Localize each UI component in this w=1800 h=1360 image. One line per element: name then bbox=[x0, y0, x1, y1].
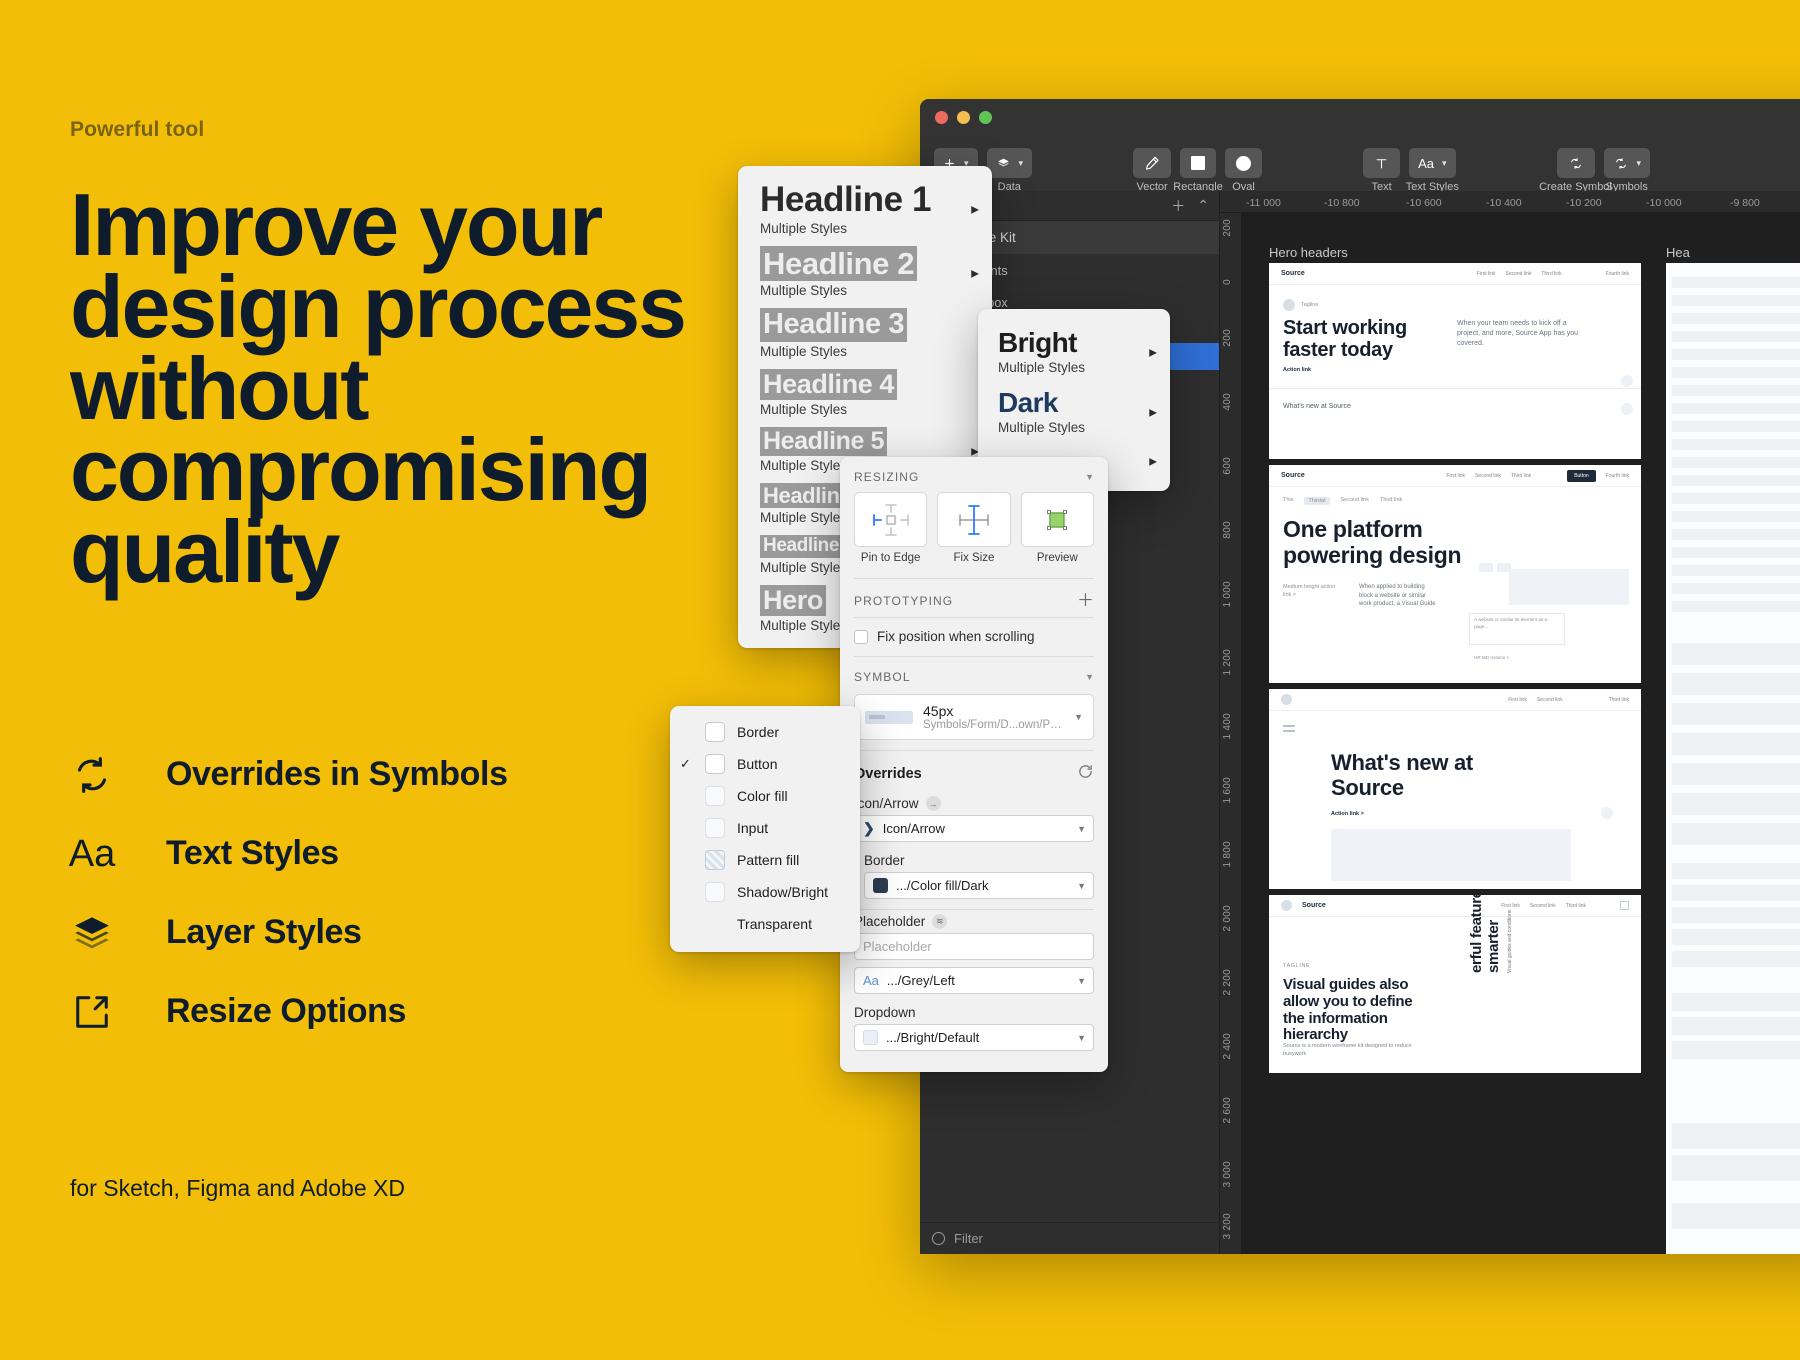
feature-label: Overrides in Symbols bbox=[166, 755, 508, 794]
override-value: .../Color fill/Dark bbox=[896, 878, 988, 893]
menu-icon[interactable] bbox=[1283, 725, 1295, 727]
arrow-badge-icon[interactable]: → bbox=[926, 796, 941, 811]
artboard-body: When your team needs to kick off a proje… bbox=[1457, 319, 1587, 349]
cta-link[interactable]: Action link > bbox=[1331, 811, 1364, 817]
style-sub: Multiple Styles bbox=[998, 420, 1156, 435]
menu-item-input[interactable]: Input bbox=[670, 812, 860, 844]
chevron-right-icon[interactable]: ▶ bbox=[1149, 457, 1157, 468]
filter-label: Filter bbox=[954, 1231, 983, 1246]
ruler-tick: 1 800 bbox=[1222, 841, 1233, 868]
chevron-down-icon[interactable]: ▼ bbox=[1077, 976, 1086, 986]
override-name: Icon/Arrow bbox=[854, 796, 919, 811]
cta-link[interactable]: Action link bbox=[1283, 367, 1311, 373]
add-page-icon[interactable]: ＋ bbox=[1171, 196, 1185, 216]
override-field-text-style[interactable]: Aa .../Grey/Left ▼ bbox=[854, 967, 1094, 994]
override-label-icon-arrow: Icon/Arrow → bbox=[840, 792, 1108, 815]
menu-item-button[interactable]: ✓ Button bbox=[670, 748, 860, 780]
fix-size-icon bbox=[937, 492, 1010, 547]
chevron-down-icon[interactable]: ▼ bbox=[1077, 1033, 1086, 1043]
resize-option-pin-to-edge[interactable]: Pin to Edge bbox=[854, 492, 927, 564]
tab-item[interactable]: Third link bbox=[1380, 497, 1402, 505]
carousel-prev-button[interactable] bbox=[1479, 563, 1493, 572]
resize-option-label: Pin to Edge bbox=[854, 552, 927, 564]
feature-item-text-styles: Aa Text Styles bbox=[70, 814, 730, 893]
override-label-placeholder: Placeholder ≋ bbox=[840, 910, 1108, 933]
collapse-icon[interactable]: ⌃ bbox=[1197, 197, 1209, 214]
style-sub: Multiple Styles bbox=[998, 360, 1156, 375]
resize-option-label: Fix Size bbox=[937, 552, 1010, 564]
grid-icon[interactable] bbox=[1620, 901, 1629, 910]
menu-item-label: Transparent bbox=[737, 916, 812, 932]
menu-item-pattern-fill[interactable]: Pattern fill bbox=[670, 844, 860, 876]
artboard-one-platform[interactable]: Source First link Second link Third link… bbox=[1269, 465, 1641, 683]
feature-label: Text Styles bbox=[166, 834, 339, 873]
chevron-right-icon: ❯ bbox=[863, 820, 875, 837]
section-title: Overrides bbox=[854, 766, 922, 782]
artboard-side-heading: erful features for ing smarter bbox=[1469, 895, 1503, 973]
tab-item[interactable]: This bbox=[1283, 497, 1293, 505]
ruler-tick: 2 400 bbox=[1222, 1033, 1233, 1060]
artboard-side-body: Visual guides and conditions bbox=[1507, 895, 1514, 973]
ruler-tick: -10 200 bbox=[1566, 197, 1602, 209]
feature-item-resize-options: Resize Options bbox=[70, 972, 730, 1051]
reset-icon[interactable] bbox=[1077, 763, 1094, 785]
traffic-lights bbox=[935, 111, 992, 124]
menu-item-dark[interactable]: Dark Multiple Styles ▶ bbox=[978, 383, 1170, 443]
artboard-whats-new[interactable]: First link Second link Third link What's… bbox=[1269, 689, 1641, 889]
ruler-tick: 3 200 bbox=[1222, 1213, 1233, 1240]
checkmark-icon: ✓ bbox=[680, 756, 693, 772]
chevron-down-icon[interactable]: ▼ bbox=[1085, 472, 1094, 482]
menu-item-headline-1[interactable]: Headline 1 Multiple Styles ▶ bbox=[738, 178, 992, 243]
resizing-options[interactable]: Pin to Edge Fix Size bbox=[840, 492, 1108, 568]
chevron-down-icon[interactable] bbox=[1621, 403, 1633, 415]
override-name: Placeholder bbox=[854, 914, 925, 929]
create-symbol-icon bbox=[1568, 157, 1584, 170]
artboard-heading: One platform powering design bbox=[1283, 517, 1483, 569]
app-toolbar: ▾ Insert ▾ Data Vector Rectangle Oval Te… bbox=[920, 135, 1800, 191]
symbol-selector[interactable]: 45px Symbols/Form/D...own/Placeholder ▼ bbox=[854, 694, 1094, 740]
toolbar-text-button[interactable]: Text bbox=[1363, 148, 1400, 178]
pen-icon bbox=[1144, 155, 1160, 171]
override-field-border[interactable]: .../Color fill/Dark ▼ bbox=[864, 872, 1094, 899]
artboard-sub: Medium height action link > bbox=[1283, 583, 1343, 600]
image-placeholder bbox=[1509, 569, 1629, 605]
design-canvas[interactable]: Hero headers Hea Source First link Secon… bbox=[1242, 213, 1800, 1254]
override-value: .../Grey/Left bbox=[887, 973, 955, 988]
artboard-label: TAGLINE bbox=[1283, 963, 1310, 969]
ruler-tick: 1 000 bbox=[1222, 581, 1233, 608]
nav-link[interactable]: Third link bbox=[1566, 903, 1586, 909]
resize-option-fix-size[interactable]: Fix Size bbox=[937, 492, 1010, 564]
menu-item-label: Pattern fill bbox=[737, 852, 799, 868]
nav-link[interactable]: Second link bbox=[1475, 473, 1501, 479]
menu-item-headline-2[interactable]: Headline 2 Multiple Styles ▶ bbox=[738, 243, 992, 305]
chevron-down-icon: ▾ bbox=[1637, 158, 1642, 169]
aa-icon: Aa bbox=[863, 973, 879, 988]
resizing-section-header[interactable]: RESIZING ▼ bbox=[840, 457, 1108, 492]
scroll-indicator[interactable] bbox=[1601, 807, 1613, 819]
toolbar-vector-button[interactable]: Vector bbox=[1133, 148, 1171, 178]
resize-option-label: Preview bbox=[1021, 552, 1094, 564]
ruler-tick: 1 200 bbox=[1222, 649, 1233, 676]
feature-list: Overrides in Symbols Aa Text Styles Laye… bbox=[70, 735, 730, 1051]
artboard-visual-guides[interactable]: Source First link Second link Third link… bbox=[1269, 895, 1641, 1073]
artboard-components-list[interactable] bbox=[1666, 263, 1800, 1254]
ruler-tick: 0 bbox=[1222, 279, 1233, 285]
nav-link[interactable]: First link bbox=[1508, 697, 1527, 703]
layers-badge-icon[interactable]: ≋ bbox=[932, 914, 947, 929]
style-name: Hero bbox=[760, 585, 826, 616]
toolbar-create-symbol-button[interactable]: Create Symbol bbox=[1557, 148, 1595, 178]
ruler-tick: 200 bbox=[1222, 329, 1233, 347]
style-sub: Multiple Styles bbox=[760, 221, 978, 236]
chevron-right-icon[interactable]: ▶ bbox=[1149, 348, 1157, 359]
style-name: Dark bbox=[998, 387, 1156, 419]
menu-item-headline-4[interactable]: Headline 4 Multiple Styles bbox=[738, 366, 992, 424]
layers-filter-bar[interactable]: Filter bbox=[920, 1222, 1219, 1254]
symbols-icon bbox=[1613, 157, 1629, 170]
ruler-tick: -9 800 bbox=[1730, 197, 1760, 209]
chevron-down-icon[interactable]: ▼ bbox=[1077, 824, 1086, 834]
ruler-tick: -10 400 bbox=[1486, 197, 1522, 209]
ruler-tick: 1 400 bbox=[1222, 713, 1233, 740]
marketing-column: Powerful tool Improve your design proces… bbox=[70, 118, 730, 593]
nav-link[interactable]: Fourth link bbox=[1606, 473, 1629, 479]
artboard-nav: Source First link Second link Third link bbox=[1269, 895, 1641, 917]
ruler-tick: 600 bbox=[1222, 457, 1233, 475]
fix-position-checkbox[interactable] bbox=[854, 630, 868, 644]
ruler-tick: 1 600 bbox=[1222, 777, 1233, 804]
ruler-tick: -11 000 bbox=[1246, 197, 1281, 209]
artboard-body: Source is a modern wireframe kit designe… bbox=[1283, 1043, 1413, 1059]
style-name: Headline 2 bbox=[760, 246, 917, 281]
override-value: .../Bright/Default bbox=[886, 1030, 979, 1045]
override-field-dropdown[interactable]: .../Bright/Default ▼ bbox=[854, 1024, 1094, 1051]
sync-arrows-icon bbox=[70, 753, 114, 797]
artboard-nav: Source First link Second link Third link… bbox=[1269, 263, 1641, 285]
style-name: Headline 4 bbox=[760, 369, 897, 400]
override-name: Border bbox=[864, 853, 905, 868]
text-styles-aa-icon: Aa bbox=[70, 832, 114, 876]
nav-link[interactable]: Third link bbox=[1541, 271, 1561, 277]
nav-link[interactable]: Third link bbox=[1609, 697, 1629, 703]
footnote: for Sketch, Figma and Adobe XD bbox=[70, 1175, 405, 1202]
checkbox-label: Fix position when scrolling bbox=[877, 629, 1035, 644]
chevron-right-icon[interactable]: ▶ bbox=[1149, 408, 1157, 419]
override-value: Icon/Arrow bbox=[883, 821, 945, 836]
nav-link[interactable]: Fourth link bbox=[1606, 271, 1629, 277]
menu-item-label: Input bbox=[737, 820, 768, 836]
nav-link[interactable]: Third link bbox=[1511, 473, 1531, 479]
page-title: Improve your design process without comp… bbox=[70, 184, 730, 593]
override-label-border: Border bbox=[840, 849, 1108, 872]
aa-icon: Aa bbox=[1418, 156, 1434, 171]
chevron-down-icon[interactable]: ▼ bbox=[1085, 672, 1094, 682]
ruler-tick: 2 600 bbox=[1222, 1097, 1233, 1124]
nav-link[interactable]: Second link bbox=[1506, 271, 1532, 277]
feature-item-overrides: Overrides in Symbols bbox=[70, 735, 730, 814]
filter-icon bbox=[932, 1232, 945, 1245]
fix-position-checkbox-row[interactable]: Fix position when scrolling bbox=[840, 618, 1108, 656]
toolbar-oval-button[interactable]: Oval bbox=[1225, 148, 1262, 178]
menu-item-label: Border bbox=[737, 724, 779, 740]
tab-item-active[interactable]: Thirdat bbox=[1304, 497, 1329, 505]
artboard-nav: First link Second link Third link bbox=[1269, 689, 1641, 711]
style-name: Bright bbox=[998, 327, 1156, 359]
ruler-tick: 400 bbox=[1222, 393, 1233, 411]
pin-to-edge-icon bbox=[854, 492, 927, 547]
menu-icon bbox=[1283, 730, 1295, 732]
menu-item-label: Button bbox=[737, 756, 777, 772]
style-swatch bbox=[705, 754, 725, 774]
eyebrow-label: Powerful tool bbox=[70, 118, 730, 142]
input-value: Placeholder bbox=[863, 939, 932, 954]
style-swatch bbox=[705, 882, 725, 902]
section-title: RESIZING bbox=[854, 470, 919, 484]
menu-item-headline-3[interactable]: Headline 3 Multiple Styles bbox=[738, 305, 992, 365]
chevron-right-icon[interactable]: ▶ bbox=[971, 269, 979, 280]
prototyping-section-header[interactable]: PROTOTYPING ＋ bbox=[840, 579, 1108, 617]
maximize-window-button[interactable] bbox=[979, 111, 992, 124]
overrides-section-header: Overrides bbox=[840, 751, 1108, 792]
toolbar-data-button[interactable]: ▾ Data bbox=[987, 148, 1033, 178]
ruler-tick: -10 800 bbox=[1324, 197, 1360, 209]
artboard-label: Hero headers bbox=[1269, 245, 1348, 260]
add-icon[interactable]: ＋ bbox=[1077, 592, 1094, 609]
placeholder-input[interactable]: Placeholder bbox=[854, 933, 1094, 960]
override-field-icon-arrow[interactable]: ❯ Icon/Arrow ▼ bbox=[854, 815, 1094, 842]
override-label-dropdown: Dropdown bbox=[840, 1001, 1108, 1024]
window-titlebar bbox=[920, 99, 1800, 135]
text-t-icon bbox=[1374, 156, 1389, 171]
light-color-swatch[interactable] bbox=[863, 1030, 878, 1045]
artboard-meta: HR MD notions > bbox=[1474, 655, 1509, 660]
divider bbox=[1269, 388, 1641, 389]
chevron-down-icon: ▾ bbox=[1442, 158, 1447, 169]
style-name: Headline 3 bbox=[760, 308, 907, 341]
ruler-tick: -10 000 bbox=[1646, 197, 1682, 209]
menu-item-label: Color fill bbox=[737, 788, 788, 804]
chevron-down-icon: ▾ bbox=[1019, 158, 1024, 169]
tagline: Tagline bbox=[1301, 302, 1318, 308]
circle-icon bbox=[1236, 156, 1251, 171]
feature-label: Layer Styles bbox=[166, 913, 362, 952]
close-window-button[interactable] bbox=[935, 111, 948, 124]
chevron-right-icon[interactable]: ▶ bbox=[971, 205, 979, 216]
avatar bbox=[1283, 299, 1295, 311]
layer-style-context-menu[interactable]: Border ✓ Button Color fill Input Pattern… bbox=[670, 706, 860, 952]
symbol-section-header[interactable]: SYMBOL ▼ bbox=[840, 657, 1108, 692]
resize-corner-icon bbox=[70, 990, 114, 1034]
ruler-tick: 200 bbox=[1222, 219, 1233, 237]
avatar bbox=[1281, 694, 1292, 705]
tab-item[interactable]: Second link bbox=[1341, 497, 1369, 505]
style-swatch bbox=[705, 818, 725, 838]
symbol-thumbnail bbox=[865, 711, 913, 724]
menu-item-transparent[interactable]: Transparent bbox=[670, 908, 860, 940]
style-name: Headline 5 bbox=[760, 427, 887, 456]
nav-link[interactable]: Second link bbox=[1530, 903, 1556, 909]
menu-item-color-fill[interactable]: Color fill bbox=[670, 780, 860, 812]
menu-item-shadow-bright[interactable]: Shadow/Bright bbox=[670, 876, 860, 908]
override-name: Dropdown bbox=[854, 1005, 916, 1020]
chevron-down-icon[interactable]: ▼ bbox=[1074, 712, 1083, 722]
artboard-heading: What's new at Source bbox=[1331, 751, 1531, 800]
nav-link[interactable]: First link bbox=[1477, 271, 1496, 277]
ruler-tick: -10 600 bbox=[1406, 197, 1442, 209]
dark-color-swatch[interactable] bbox=[873, 878, 888, 893]
style-swatch bbox=[705, 850, 725, 870]
style-sub: Multiple Styles bbox=[760, 402, 978, 417]
nav-link[interactable]: First link bbox=[1446, 473, 1465, 479]
carousel-next-button[interactable] bbox=[1497, 563, 1511, 572]
style-sub: Multiple Styles bbox=[760, 344, 978, 359]
symbol-name: 45px bbox=[923, 703, 1064, 719]
artboard-body: When applied to building block a website… bbox=[1359, 583, 1437, 609]
toolbar-symbols-button[interactable]: ▾ Symbols bbox=[1604, 148, 1651, 178]
vertical-ruler[interactable]: 200 0 200 400 600 800 1 000 1 200 1 400 … bbox=[1220, 213, 1242, 1254]
menu-item-bright[interactable]: Bright Multiple Styles ▶ bbox=[978, 323, 1170, 383]
inspector-panel[interactable]: RESIZING ▼ Pin to Edge bbox=[840, 457, 1108, 1072]
note-text: A website or similar kit element as a pa… bbox=[1474, 617, 1560, 630]
style-swatch bbox=[705, 786, 725, 806]
avatar bbox=[1281, 900, 1292, 911]
minimize-window-button[interactable] bbox=[957, 111, 970, 124]
ruler-tick: 2 200 bbox=[1222, 969, 1233, 996]
ruler-tick: 800 bbox=[1222, 521, 1233, 539]
image-placeholder bbox=[1331, 829, 1571, 881]
nav-link[interactable]: Second link bbox=[1537, 697, 1563, 703]
chevron-up-icon[interactable] bbox=[1621, 375, 1633, 387]
artboard-hero-start-working[interactable]: Source First link Second link Third link… bbox=[1269, 263, 1641, 459]
ruler-tick: 2 000 bbox=[1222, 905, 1233, 932]
chevron-down-icon[interactable]: ▼ bbox=[1077, 881, 1086, 891]
style-name: Headline 1 bbox=[760, 181, 978, 219]
artboard-label: Hea bbox=[1666, 245, 1690, 260]
artboard-heading: Start working faster today bbox=[1283, 317, 1433, 362]
menu-item-border[interactable]: Border bbox=[670, 716, 860, 748]
preview-icon bbox=[1021, 492, 1094, 547]
resize-option-preview[interactable]: Preview bbox=[1021, 492, 1094, 564]
layers-icon bbox=[996, 157, 1011, 170]
section-title: SYMBOL bbox=[854, 670, 911, 684]
toolbar-rectangle-button[interactable]: Rectangle bbox=[1180, 148, 1216, 178]
artboard-logo: Source bbox=[1302, 902, 1326, 909]
style-swatch bbox=[705, 722, 725, 742]
square-icon bbox=[1191, 156, 1205, 170]
toolbar-text-styles-button[interactable]: Aa ▾ Text Styles bbox=[1409, 148, 1455, 178]
artboard-logo: Source bbox=[1281, 472, 1305, 479]
layers-stack-icon bbox=[70, 911, 114, 955]
card-title: What's new at Source bbox=[1283, 403, 1351, 410]
section-title: PROTOTYPING bbox=[854, 594, 953, 608]
style-swatch bbox=[705, 914, 725, 934]
artboard-heading: Visual guides also allow you to define t… bbox=[1283, 977, 1423, 1044]
symbol-path: Symbols/Form/D...own/Placeholder bbox=[923, 719, 1064, 731]
nav-button[interactable]: Button bbox=[1567, 470, 1595, 482]
artboard-nav: Source First link Second link Third link… bbox=[1269, 465, 1641, 487]
menu-item-label: Shadow/Bright bbox=[737, 884, 828, 900]
feature-item-layer-styles: Layer Styles bbox=[70, 893, 730, 972]
artboard-logo: Source bbox=[1281, 270, 1305, 277]
feature-label: Resize Options bbox=[166, 992, 406, 1031]
ruler-tick: 3 000 bbox=[1222, 1161, 1233, 1188]
style-sub: Multiple Styles bbox=[760, 283, 978, 298]
